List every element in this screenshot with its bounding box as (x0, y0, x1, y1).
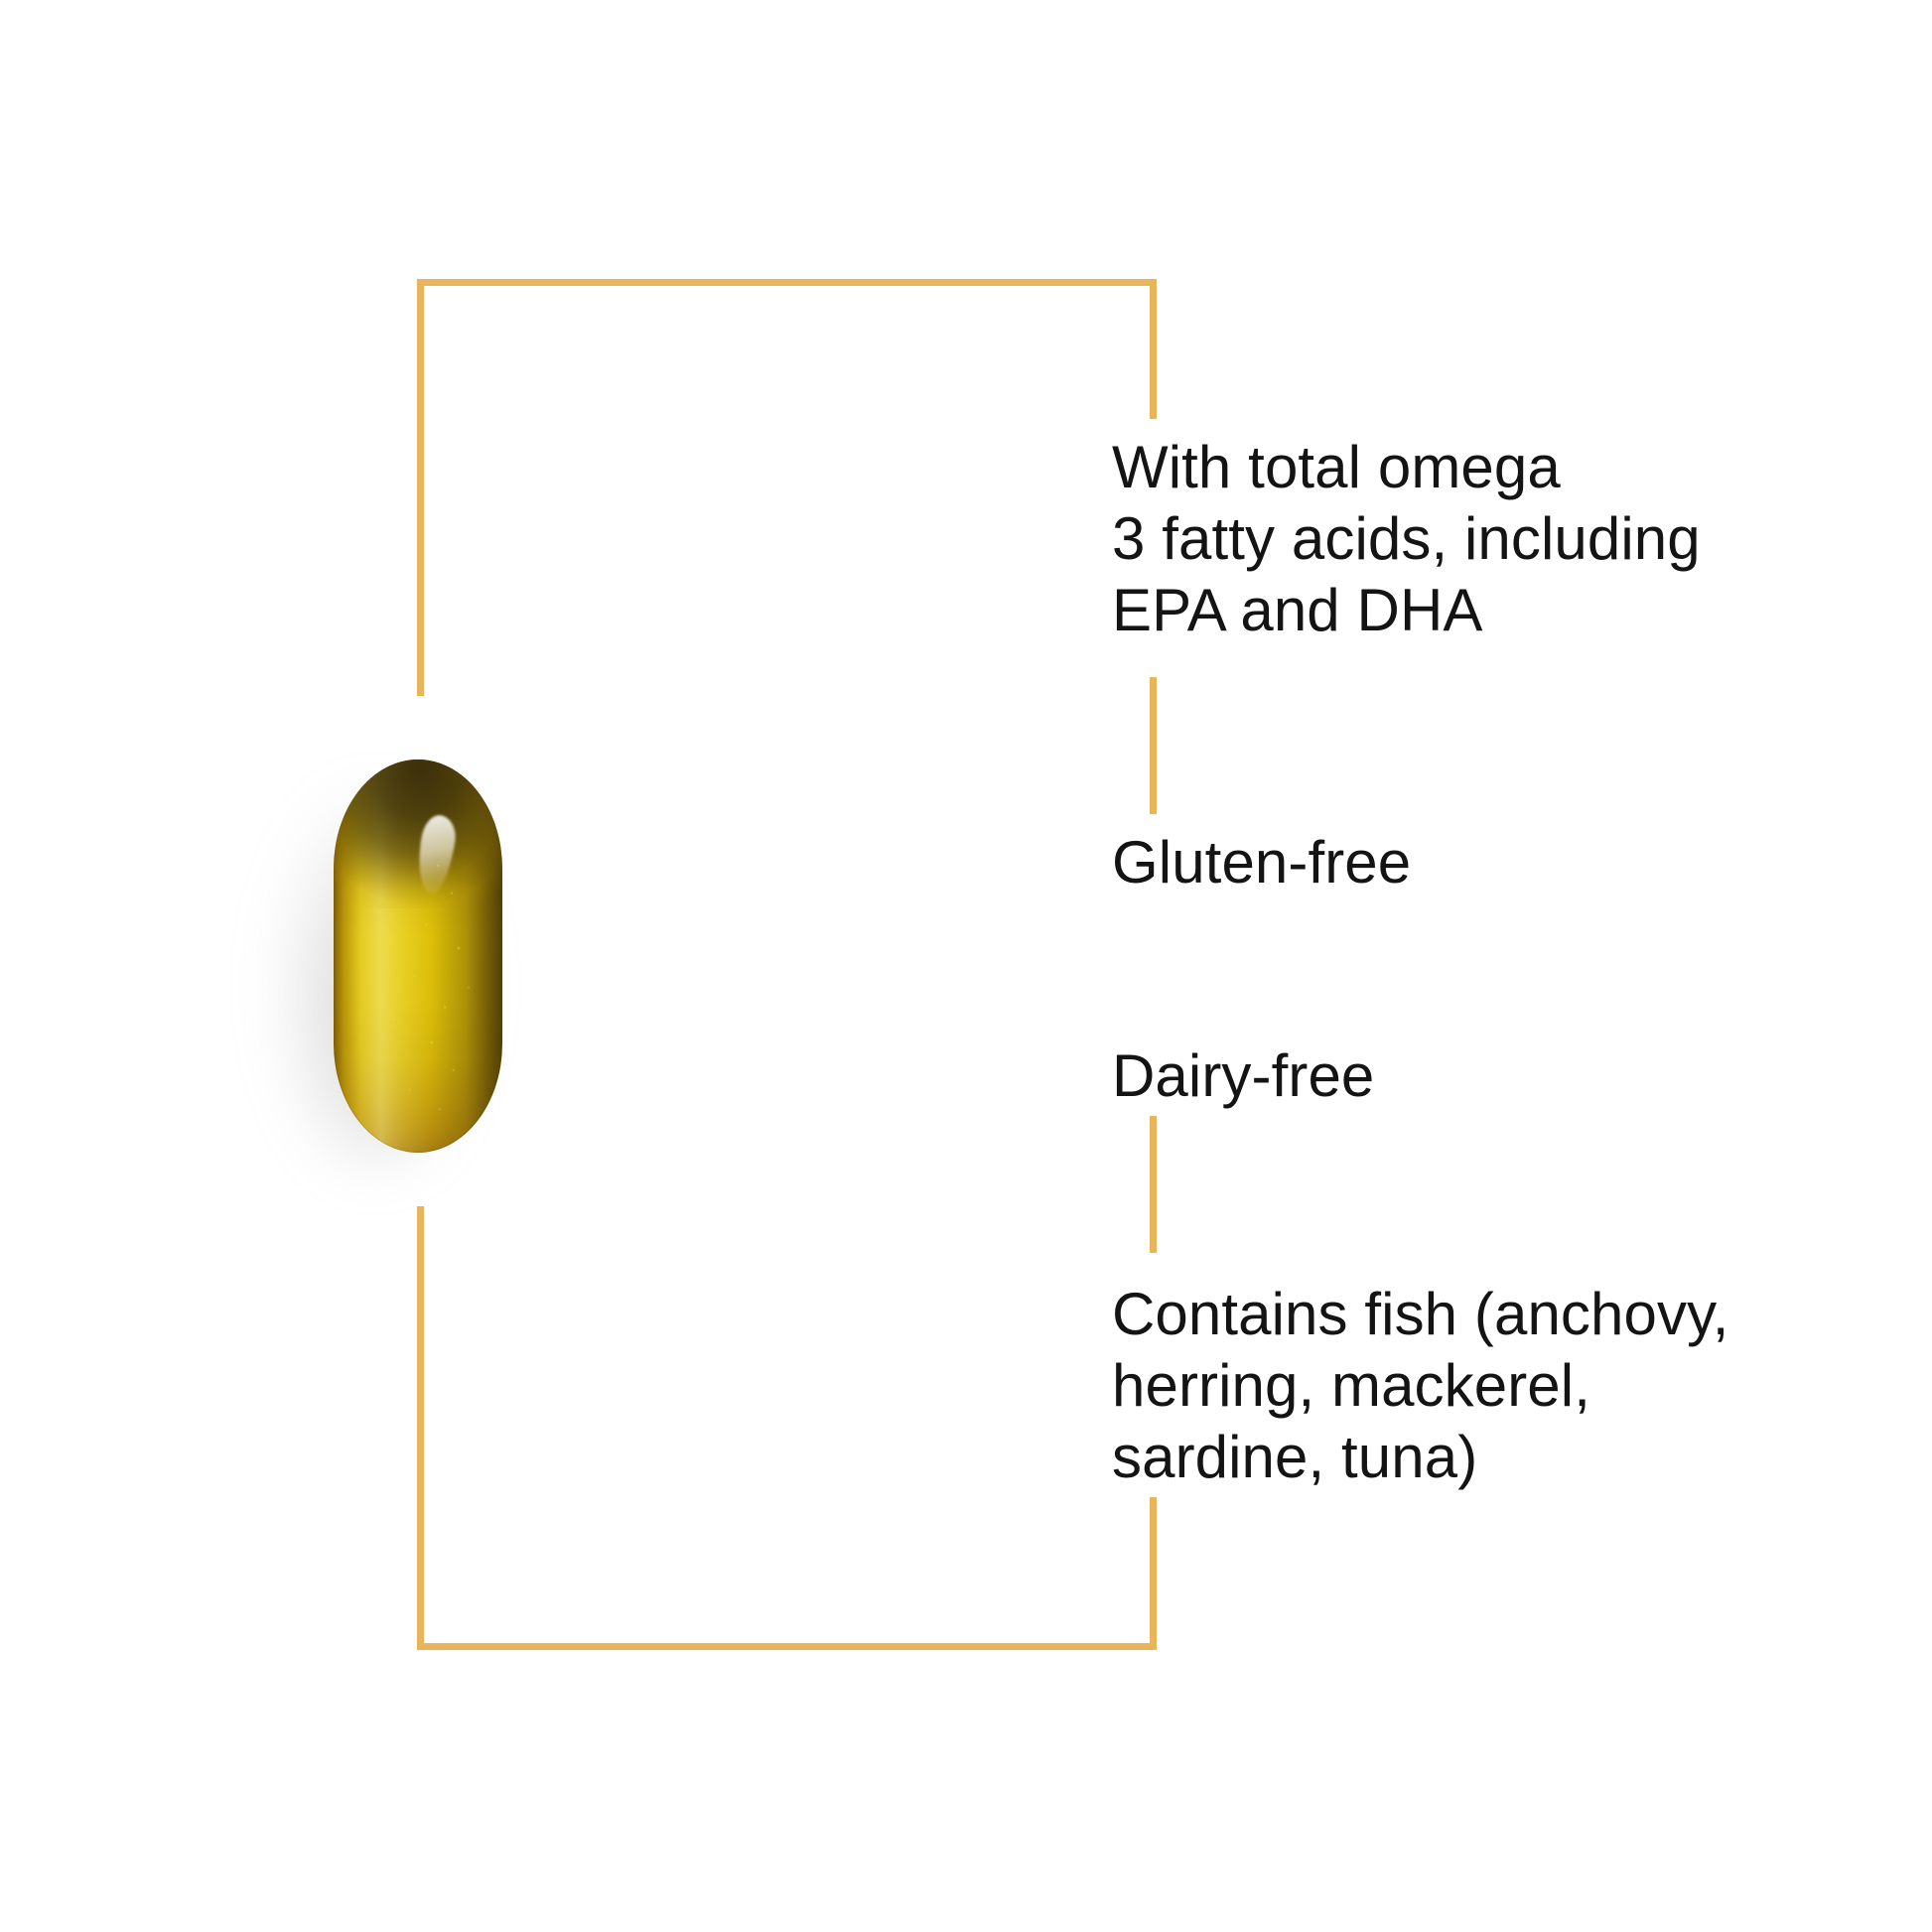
callout-contains-fish: Contains fish (anchovy, herring, mackere… (1112, 1279, 1729, 1493)
frame-bottom-edge (417, 1643, 1157, 1650)
capsule-body (334, 759, 502, 1153)
frame-right-edge-segment-3 (1150, 1116, 1157, 1253)
frame-right-edge-segment-4 (1150, 1497, 1157, 1650)
frame-top-edge (417, 279, 1157, 286)
callout-dairy-free: Dairy-free (1112, 1040, 1374, 1112)
callout-omega-3: With total omega 3 fatty acids, includin… (1112, 432, 1701, 646)
capsule-surface-texture (334, 759, 502, 1153)
frame-right-edge-segment-2 (1150, 677, 1157, 814)
frame-left-edge-upper (417, 279, 424, 696)
product-infographic: With total omega 3 fatty acids, includin… (0, 0, 1932, 1932)
softgel-capsule-image (328, 753, 508, 1162)
frame-right-edge-segment-1 (1150, 279, 1157, 419)
frame-left-edge-lower (417, 1206, 424, 1650)
callout-gluten-free: Gluten-free (1112, 827, 1411, 898)
